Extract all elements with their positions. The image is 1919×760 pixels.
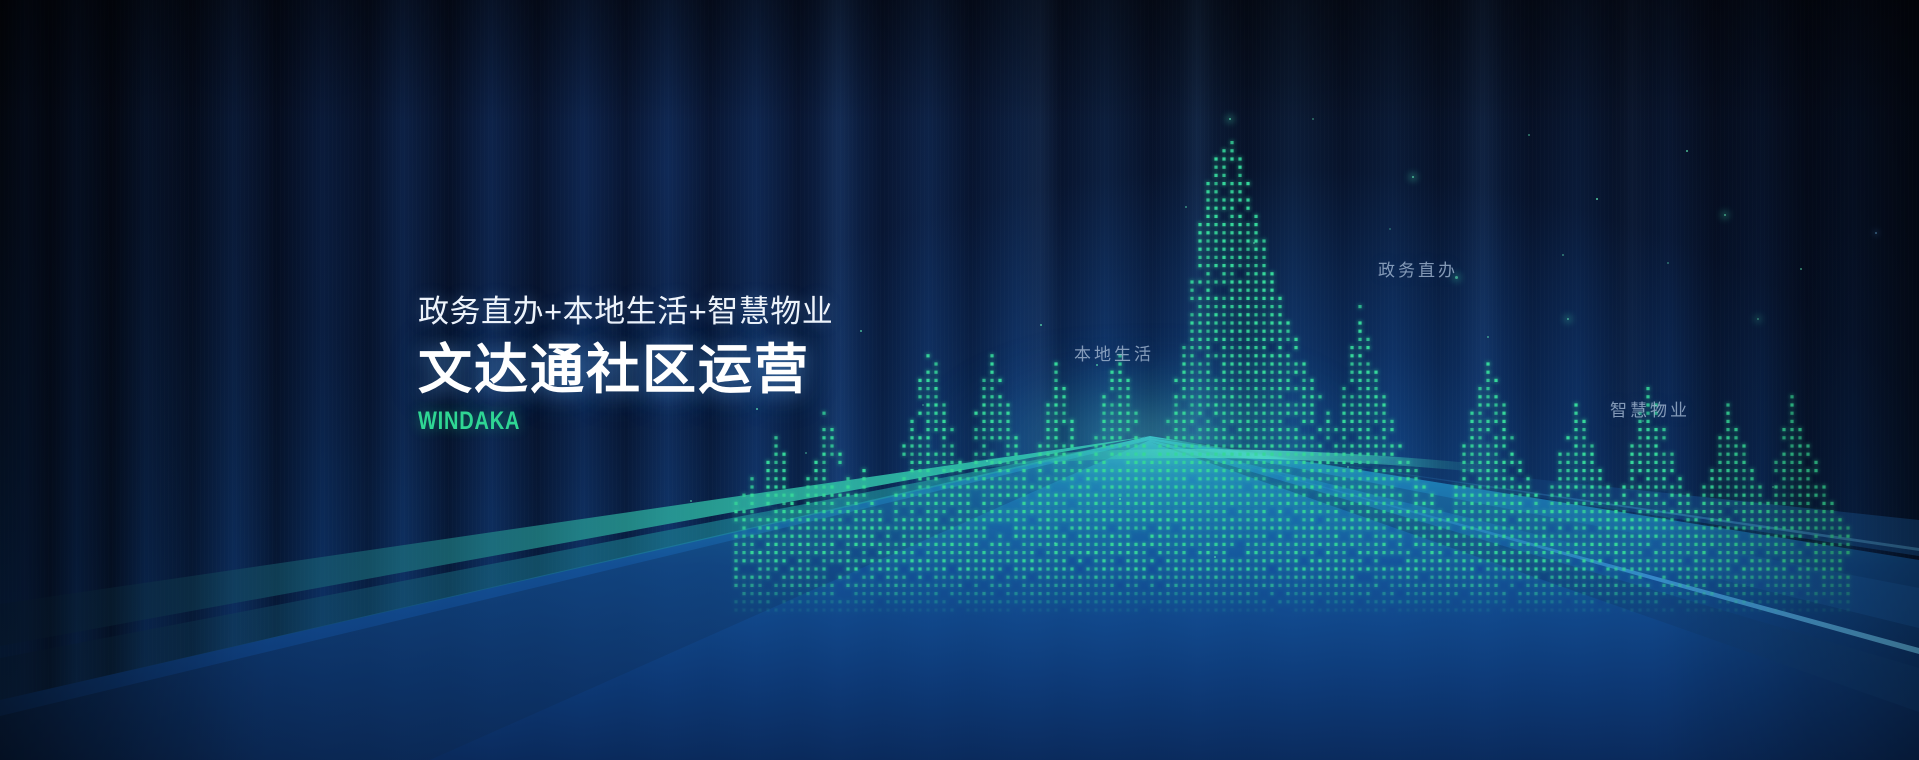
banner-stage: 本地生活 政务直办 智慧物业 政务直办+本地生活+智慧物业 文达通社区运营 WI… (0, 0, 1919, 760)
brand-wordmark: WINDAKA (418, 407, 750, 435)
dot-matrix-skyline (0, 0, 1919, 760)
skyline-label-local-life: 本地生活 (1074, 340, 1154, 365)
headline-text-block: 政务直办+本地生活+智慧物业 文达通社区运营 WINDAKA (418, 292, 833, 435)
skyline-columns (734, 141, 1849, 612)
banner-main-title: 文达通社区运营 (418, 339, 833, 401)
banner-subtitle: 政务直办+本地生活+智慧物业 (418, 292, 833, 332)
skyline-label-smart-property: 智慧物业 (1610, 396, 1690, 421)
skyline-label-gov-service: 政务直办 (1378, 256, 1458, 281)
